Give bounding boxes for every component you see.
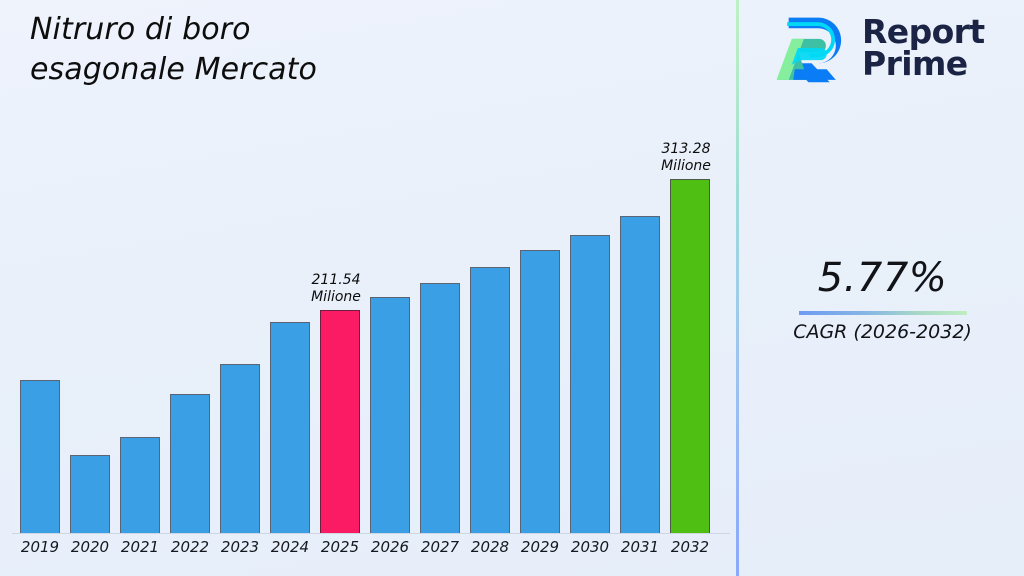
x-tick-2021: 2021 bbox=[120, 538, 160, 556]
x-tick-2023: 2023 bbox=[220, 538, 260, 556]
chart-panel: Nitruro di boro esagonale Mercato 201920… bbox=[0, 0, 737, 576]
x-tick-2027: 2027 bbox=[420, 538, 460, 556]
brand-name-line-2: Prime bbox=[862, 44, 968, 83]
x-tick-2024: 2024 bbox=[270, 538, 310, 556]
infographic-root: Nitruro di boro esagonale Mercato 201920… bbox=[0, 0, 1024, 576]
bar-2031 bbox=[620, 216, 660, 533]
bar-2023 bbox=[220, 364, 260, 533]
x-tick-2022: 2022 bbox=[170, 538, 210, 556]
bar-2020 bbox=[70, 455, 110, 533]
bar-annotation-2025: 211.54Milione bbox=[291, 272, 381, 305]
x-axis-line bbox=[12, 533, 730, 534]
bar-2029 bbox=[520, 250, 560, 533]
bar-annotation-2032: 313.28Milione bbox=[641, 141, 731, 174]
x-tick-2028: 2028 bbox=[470, 538, 510, 556]
bar-2026 bbox=[370, 297, 410, 533]
brand-logo: Report Prime bbox=[774, 10, 985, 86]
bar-2030 bbox=[570, 235, 610, 533]
bar-2027 bbox=[420, 283, 460, 533]
cagr-divider-rule bbox=[799, 311, 967, 315]
x-tick-2032: 2032 bbox=[670, 538, 710, 556]
bar-annotation-value-2025: 211.54 bbox=[291, 272, 381, 289]
x-tick-2020: 2020 bbox=[70, 538, 110, 556]
brand-panel: Report Prime 5.77% CAGR (2026-2032) bbox=[741, 0, 1024, 576]
cagr-caption: CAGR (2026-2032) bbox=[741, 321, 1024, 343]
report-prime-r-logo-icon bbox=[774, 10, 852, 86]
cagr-value: 5.77% bbox=[741, 255, 1024, 301]
bar-2032 bbox=[670, 179, 710, 533]
bar-2028 bbox=[470, 267, 510, 533]
x-tick-2026: 2026 bbox=[370, 538, 410, 556]
panel-divider bbox=[736, 0, 739, 576]
bar-annotation-value-2032: 313.28 bbox=[641, 141, 731, 158]
bar-2021 bbox=[120, 437, 160, 533]
x-tick-2030: 2030 bbox=[570, 538, 610, 556]
x-tick-2029: 2029 bbox=[520, 538, 560, 556]
bar-2019 bbox=[20, 380, 60, 533]
bar-2022 bbox=[170, 394, 210, 533]
x-tick-2019: 2019 bbox=[20, 538, 60, 556]
cagr-block: 5.77% CAGR (2026-2032) bbox=[741, 255, 1024, 343]
bar-annotation-unit-2025: Milione bbox=[291, 289, 381, 306]
x-tick-2025: 2025 bbox=[320, 538, 360, 556]
bar-2025 bbox=[320, 310, 360, 533]
bar-annotation-unit-2032: Milione bbox=[641, 158, 731, 175]
bar-2024 bbox=[270, 322, 310, 533]
brand-name: Report Prime bbox=[862, 16, 985, 81]
bar-chart: 2019202020212022202320242025202620272028… bbox=[0, 0, 737, 576]
x-tick-2031: 2031 bbox=[620, 538, 660, 556]
